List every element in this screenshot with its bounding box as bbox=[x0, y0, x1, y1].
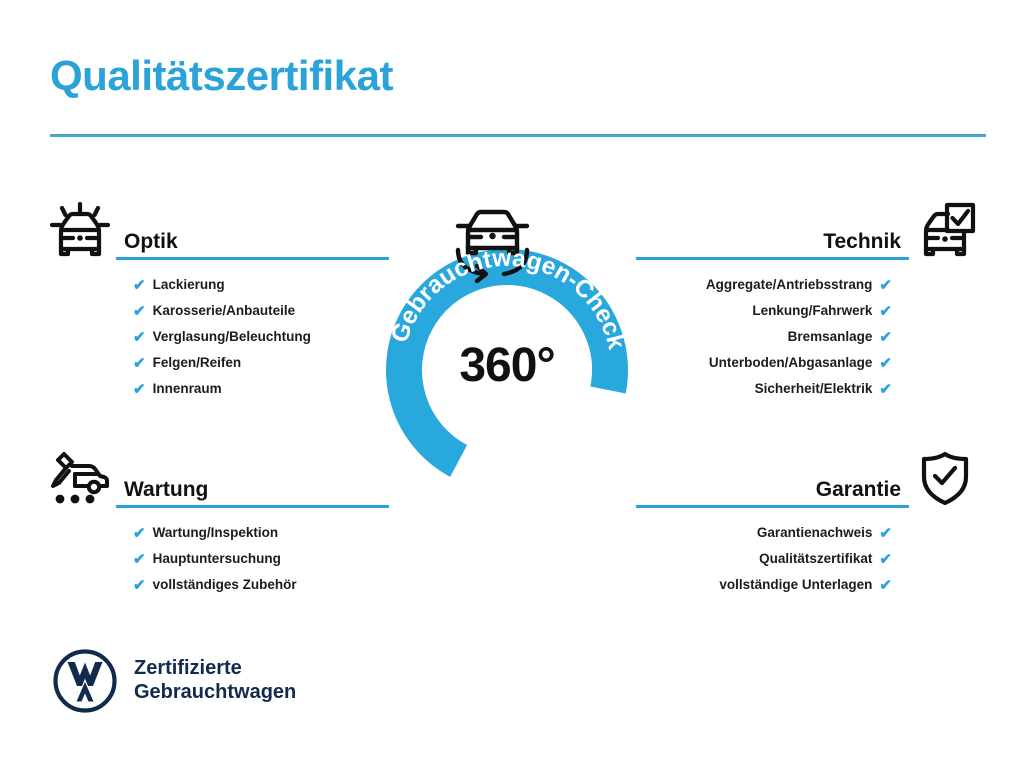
title-divider bbox=[50, 134, 986, 137]
list-item: ✔ Innenraum bbox=[44, 376, 389, 402]
section-wartung-title: Wartung bbox=[116, 478, 389, 505]
list-item-label: Hauptuntersuchung bbox=[153, 552, 281, 566]
check-icon: ✔ bbox=[133, 578, 146, 593]
check-icon: ✔ bbox=[133, 552, 146, 567]
list-item-label: vollständiges Zubehör bbox=[153, 578, 297, 592]
check-icon: ✔ bbox=[879, 278, 892, 293]
check-icon: ✔ bbox=[879, 382, 892, 397]
badge-center-value: 360° bbox=[378, 338, 636, 393]
volkswagen-logo bbox=[52, 648, 118, 714]
section-garantie: Garantie ✔ Garantienachweis ✔ Qualitätsz… bbox=[636, 446, 981, 598]
left-column: Optik ✔ Lackierung ✔ Karosserie/Anbautei… bbox=[44, 198, 389, 598]
list-item-label: Felgen/Reifen bbox=[153, 356, 242, 370]
section-garantie-heading-wrap: Garantie bbox=[636, 478, 909, 510]
list-item-label: Garantienachweis bbox=[757, 526, 873, 540]
section-technik-rule bbox=[636, 257, 909, 260]
list-item-label: Wartung/Inspektion bbox=[153, 526, 279, 540]
car-service-pencil-icon bbox=[44, 446, 116, 510]
section-wartung-list: ✔ Wartung/Inspektion ✔ Hauptuntersuchung… bbox=[44, 520, 389, 598]
section-technik-title: Technik bbox=[636, 230, 909, 257]
list-item-label: Qualitätszertifikat bbox=[759, 552, 872, 566]
section-garantie-rule bbox=[636, 505, 909, 508]
check-icon: ✔ bbox=[133, 278, 146, 293]
page-title: Qualitätszertifikat bbox=[50, 52, 393, 100]
list-item: ✔ Lenkung/Fahrwerk bbox=[636, 298, 981, 324]
section-technik-list: ✔ Aggregate/Antriebsstrang ✔ Lenkung/Fah… bbox=[636, 272, 981, 402]
list-item: ✔ Aggregate/Antriebsstrang bbox=[636, 272, 981, 298]
shield-check-icon bbox=[909, 446, 981, 510]
list-item-label: vollständige Unterlagen bbox=[719, 578, 872, 592]
list-item-label: Innenraum bbox=[153, 382, 222, 396]
list-item: ✔ Hauptuntersuchung bbox=[44, 546, 389, 572]
section-wartung: Wartung ✔ Wartung/Inspektion ✔ Hauptunte… bbox=[44, 446, 389, 598]
section-wartung-rule bbox=[116, 505, 389, 508]
list-item: ✔ Wartung/Inspektion bbox=[44, 520, 389, 546]
section-optik-title: Optik bbox=[116, 230, 389, 257]
list-item: ✔ Unterboden/Abgasanlage bbox=[636, 350, 981, 376]
list-item: ✔ vollständiges Zubehör bbox=[44, 572, 389, 598]
list-item: ✔ vollständige Unterlagen bbox=[636, 572, 981, 598]
section-garantie-title: Garantie bbox=[636, 478, 909, 505]
section-garantie-header: Garantie bbox=[636, 446, 981, 510]
section-optik-rule bbox=[116, 257, 389, 260]
section-optik-heading-wrap: Optik bbox=[116, 230, 389, 262]
check-icon: ✔ bbox=[133, 304, 146, 319]
list-item-label: Karosserie/Anbauteile bbox=[153, 304, 296, 318]
section-optik-header: Optik bbox=[44, 198, 389, 262]
car-checkbox-icon bbox=[909, 198, 981, 262]
check-icon: ✔ bbox=[133, 526, 146, 541]
check-icon: ✔ bbox=[879, 330, 892, 345]
certificate-page: Qualitätszertifikat bbox=[0, 0, 1024, 768]
check-icon: ✔ bbox=[879, 578, 892, 593]
list-item: ✔ Lackierung bbox=[44, 272, 389, 298]
list-item: ✔ Qualitätszertifikat bbox=[636, 546, 981, 572]
check-icon: ✔ bbox=[879, 356, 892, 371]
check-icon: ✔ bbox=[879, 552, 892, 567]
list-item-label: Bremsanlage bbox=[788, 330, 873, 344]
footer-line-1: Zertifizierte bbox=[134, 657, 296, 681]
section-technik-heading-wrap: Technik bbox=[636, 230, 909, 262]
right-column: Technik ✔ Aggregate/Antriebsstrang ✔ Len… bbox=[636, 198, 981, 598]
badge-360-gebrauchtwagen-check: Gebrauchtwagen-Check 360° bbox=[378, 190, 636, 490]
list-item-label: Aggregate/Antriebsstrang bbox=[706, 278, 873, 292]
check-icon: ✔ bbox=[879, 304, 892, 319]
section-technik-header: Technik bbox=[636, 198, 981, 262]
footer-brand: Zertifizierte Gebrauchtwagen bbox=[52, 648, 296, 714]
section-technik: Technik ✔ Aggregate/Antriebsstrang ✔ Len… bbox=[636, 198, 981, 402]
footer-brand-text: Zertifizierte Gebrauchtwagen bbox=[134, 657, 296, 704]
list-item-label: Sicherheit/Elektrik bbox=[755, 382, 873, 396]
footer-line-2: Gebrauchtwagen bbox=[134, 681, 296, 705]
section-garantie-list: ✔ Garantienachweis ✔ Qualitätszertifikat… bbox=[636, 520, 981, 598]
section-optik: Optik ✔ Lackierung ✔ Karosserie/Anbautei… bbox=[44, 198, 389, 402]
check-icon: ✔ bbox=[133, 330, 146, 345]
check-icon: ✔ bbox=[133, 382, 146, 397]
shiny-car-front-icon bbox=[44, 198, 116, 262]
list-item-label: Lackierung bbox=[153, 278, 225, 292]
list-item-label: Unterboden/Abgasanlage bbox=[709, 356, 873, 370]
section-wartung-header: Wartung bbox=[44, 446, 389, 510]
list-item-label: Lenkung/Fahrwerk bbox=[752, 304, 872, 318]
list-item-label: Verglasung/Beleuchtung bbox=[153, 330, 311, 344]
section-wartung-heading-wrap: Wartung bbox=[116, 478, 389, 510]
list-item: ✔ Sicherheit/Elektrik bbox=[636, 376, 981, 402]
list-item: ✔ Verglasung/Beleuchtung bbox=[44, 324, 389, 350]
list-item: ✔ Karosserie/Anbauteile bbox=[44, 298, 389, 324]
list-item: ✔ Felgen/Reifen bbox=[44, 350, 389, 376]
section-optik-list: ✔ Lackierung ✔ Karosserie/Anbauteile ✔ V… bbox=[44, 272, 389, 402]
check-icon: ✔ bbox=[879, 526, 892, 541]
list-item: ✔ Garantienachweis bbox=[636, 520, 981, 546]
list-item: ✔ Bremsanlage bbox=[636, 324, 981, 350]
check-icon: ✔ bbox=[133, 356, 146, 371]
